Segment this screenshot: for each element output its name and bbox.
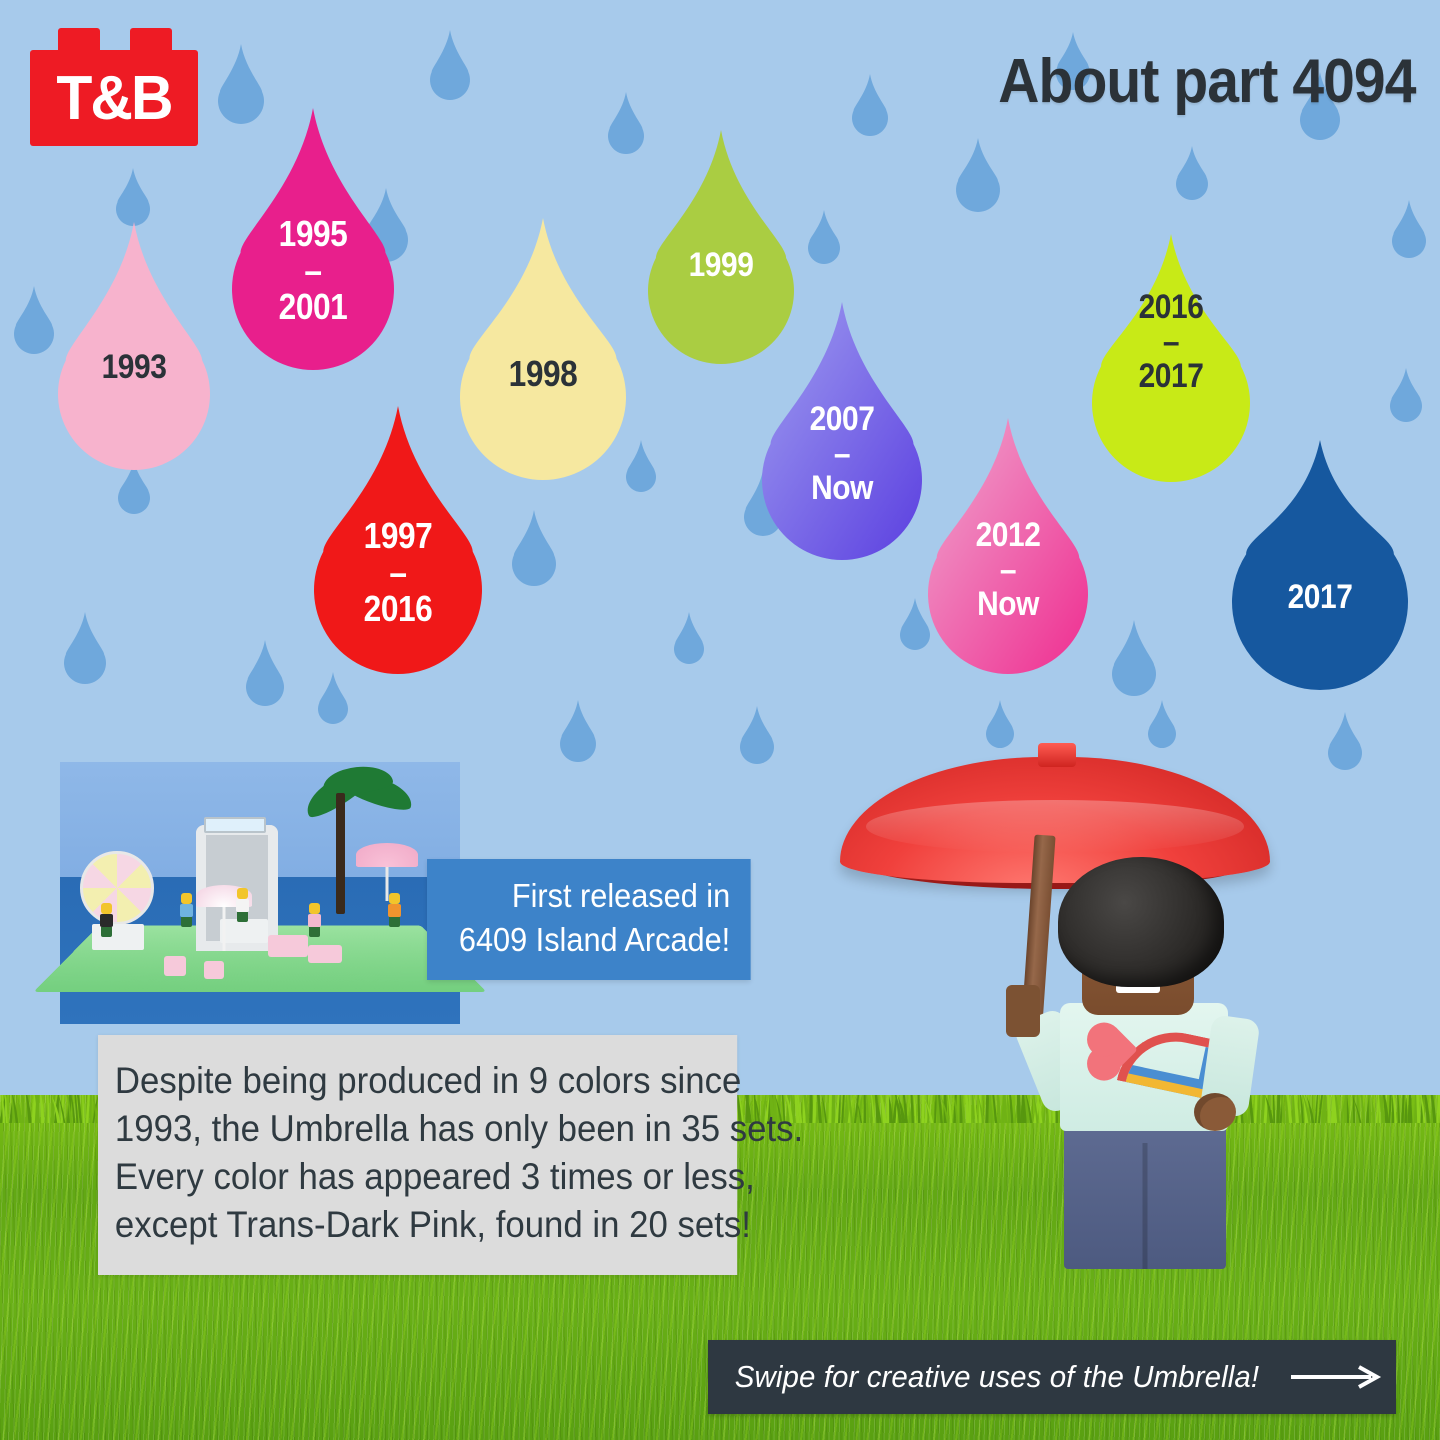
rain-droplet: [852, 74, 888, 136]
umbrella-grip: [1006, 985, 1040, 1037]
callout-line-1: First released in: [512, 874, 730, 918]
drop-1997-2016[interactable]: 1997 – 2016: [314, 406, 482, 674]
photo-minifigure: [308, 903, 321, 937]
rain-droplet: [560, 700, 596, 762]
logo-text: T&B: [34, 50, 194, 146]
umbrella-canopy: [840, 757, 1270, 883]
rain-droplet: [956, 138, 1000, 212]
rain-droplet: [808, 210, 840, 264]
drop-2017[interactable]: 2017: [1232, 440, 1408, 690]
photo-minifigure: [100, 903, 113, 937]
rain-droplet: [1328, 712, 1362, 770]
panel-line-2: 1993, the Umbrella has only been in 35 s…: [115, 1105, 722, 1153]
photo-minifigure: [236, 888, 249, 922]
rain-droplet: [1112, 620, 1156, 696]
brand-logo[interactable]: T&B: [30, 28, 198, 146]
rain-droplet: [674, 612, 704, 664]
rain-droplet: [900, 598, 930, 650]
photo-minifigure: [180, 893, 193, 927]
photo-pink-umbrella: [356, 843, 418, 867]
drop-2012-now[interactable]: 2012 – Now: [928, 418, 1088, 674]
palm-trunk: [336, 793, 345, 914]
rain-droplet: [626, 440, 656, 492]
rain-droplet: [1390, 368, 1422, 422]
rain-droplet: [1176, 146, 1208, 200]
first-released-callout: First released in 6409 Island Arcade!: [427, 859, 751, 980]
panel-line-4: except Trans-Dark Pink, found in 20 sets…: [115, 1201, 722, 1249]
minifig-legs: [1064, 1117, 1226, 1269]
photo-furniture: [308, 945, 342, 963]
photo-furniture: [268, 935, 308, 957]
photo-furniture: [164, 956, 186, 976]
rain-droplet: [740, 706, 774, 764]
drop-1998[interactable]: 1998: [460, 218, 626, 480]
photo-minifigure: [388, 893, 401, 927]
callout-line-2: 6409 Island Arcade!: [459, 918, 730, 962]
panel-line-3: Every color has appeared 3 times or less…: [115, 1153, 722, 1201]
rain-droplet: [14, 286, 54, 354]
arrow-right-icon: [1291, 1365, 1383, 1389]
photo-counter: [220, 919, 268, 943]
page-title: About part 4094: [999, 46, 1416, 117]
drop-1995-2001[interactable]: 1995 – 2001: [232, 108, 394, 370]
swipe-label: Swipe for creative uses of the Umbrella!: [735, 1359, 1259, 1395]
lego-set-photo: [60, 762, 460, 1024]
rain-droplet: [318, 672, 348, 724]
rain-droplet: [430, 30, 470, 100]
panel-line-1: Despite being produced in 9 colors since: [115, 1057, 722, 1105]
rain-droplet: [1392, 200, 1426, 258]
rain-droplet: [64, 612, 106, 684]
drop-2007-now[interactable]: 2007 – Now: [762, 302, 922, 560]
drop-1993[interactable]: 1993: [58, 222, 210, 470]
photo-furniture: [204, 961, 224, 979]
rain-droplet: [246, 640, 284, 706]
rain-droplet: [512, 510, 556, 586]
minifigure-with-umbrella: [830, 735, 1310, 1295]
infographic-canvas: 19931995 – 20011997 – 201619981999 2007 …: [0, 0, 1440, 1440]
minifig-hair: [1058, 857, 1224, 987]
photo-sign: [204, 817, 266, 833]
umbrella-knob: [1038, 743, 1076, 767]
stats-panel: Despite being produced in 9 colors since…: [98, 1035, 737, 1275]
rain-droplet: [608, 92, 644, 154]
swipe-banner[interactable]: Swipe for creative uses of the Umbrella!: [708, 1340, 1396, 1414]
drop-2016-2017[interactable]: 2016 – 2017: [1092, 234, 1250, 482]
rain-droplet: [116, 168, 150, 226]
minifig-right-hand: [1194, 1093, 1236, 1131]
photo-prize-wheel: [80, 851, 154, 925]
